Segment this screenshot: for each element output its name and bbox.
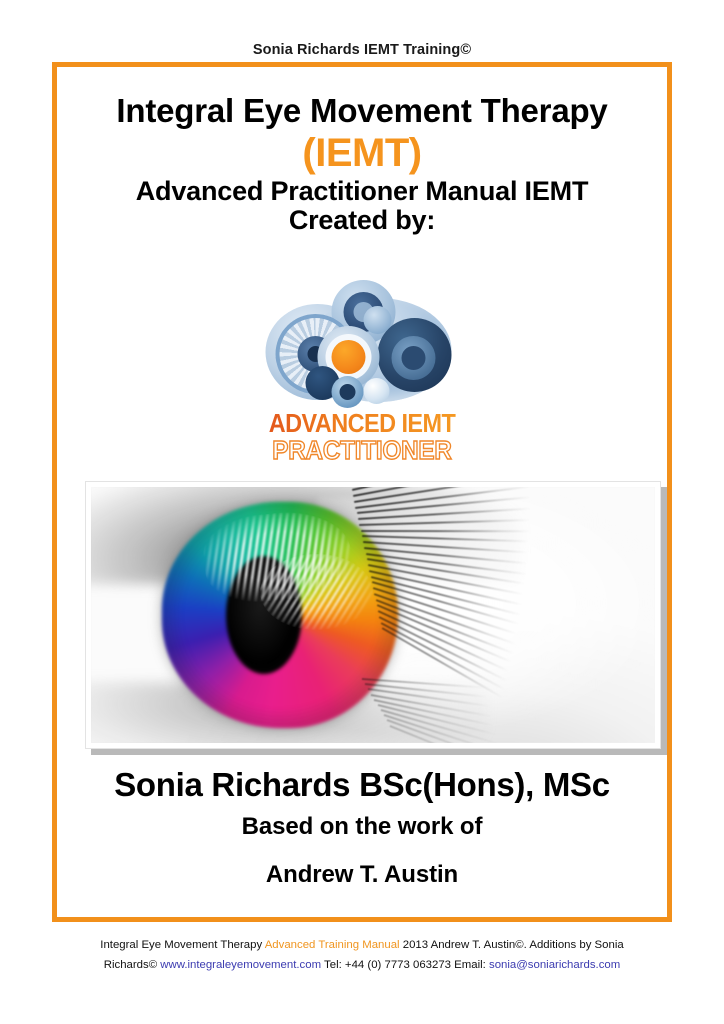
logo-circles-icon [260, 280, 465, 408]
footer-text-2b: Tel: +44 (0) 7773 063273 Email: [321, 959, 489, 971]
author-block: Sonia Richards BSc(Hons), MSc Based on t… [57, 767, 667, 889]
author-source-name: Andrew T. Austin [57, 861, 667, 889]
logo-center-orange-core [332, 340, 366, 374]
photo-eyelashes-lower [362, 671, 599, 738]
author-based-on: Based on the work of [57, 813, 667, 841]
eye-photo [91, 487, 655, 743]
footer-line-2: Richards© www.integraleyemovement.com Te… [60, 956, 664, 976]
photo-eyelashes-upper [350, 487, 655, 671]
logo-text-advanced-iemt: ADVANCED IEMT [263, 412, 461, 438]
title-acronym: (IEMT) [57, 130, 667, 177]
title-created-by: Created by: [57, 206, 667, 234]
logo-dot-upper-right [364, 306, 392, 334]
title-block: Integral Eye Movement Therapy (IEMT) Adv… [57, 93, 667, 235]
page-title: Integral Eye Movement Therapy [57, 93, 667, 130]
logo: ADVANCED IEMT PRACTITIONER [255, 280, 470, 464]
page-header: Sonia Richards IEMT Training© [0, 42, 724, 58]
footer-website-link[interactable]: www.integraleyemovement.com [160, 959, 321, 971]
footer-line-1: Integral Eye Movement Therapy Advanced T… [60, 936, 664, 956]
logo-disc-navy-core [402, 346, 426, 370]
footer-text-1a: Integral Eye Movement Therapy [100, 939, 264, 951]
title-subtitle: Advanced Practitioner Manual IEMT [57, 177, 667, 206]
footer-email-link[interactable]: sonia@soniarichards.com [489, 959, 620, 971]
footer: Integral Eye Movement Therapy Advanced T… [60, 936, 664, 976]
cover-frame: Integral Eye Movement Therapy (IEMT) Adv… [52, 62, 672, 922]
logo-dot-lower-pale [364, 378, 390, 404]
author-name: Sonia Richards BSc(Hons), MSc [57, 767, 667, 803]
footer-text-1b: 2013 Andrew T. Austin©. Additions by Son… [400, 939, 624, 951]
footer-text-2a: Richards© [104, 959, 161, 971]
logo-dot-lower-eye-core [340, 384, 356, 400]
logo-text-practitioner: PRACTITIONER [260, 438, 464, 465]
footer-manual-label: Advanced Training Manual [265, 939, 400, 951]
